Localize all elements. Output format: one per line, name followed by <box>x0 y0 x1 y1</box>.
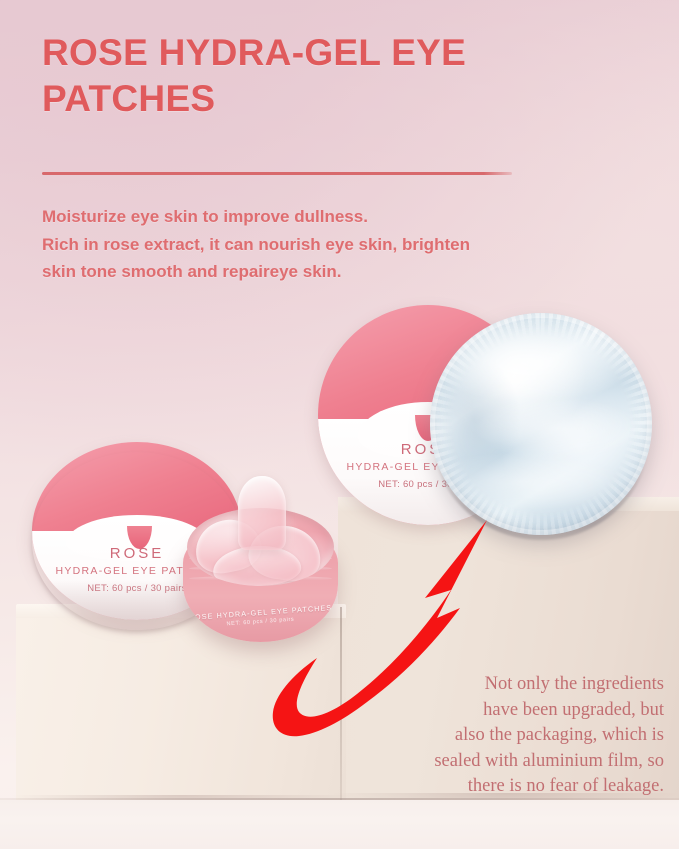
title-line-1: ROSE HYDRA-GEL EYE <box>42 32 466 73</box>
intro-line-2: Rich in rose extract, it can nourish eye… <box>42 231 642 259</box>
product-marketing-poster: ROSE HYDRA-GEL EYE PATCHES Moisturize ey… <box>0 0 679 849</box>
title-line-2: PATCHES <box>42 78 215 119</box>
intro-line-3: skin tone smooth and repaireye skin. <box>42 258 642 286</box>
callout-line-3: also the packaging, which is <box>352 723 664 749</box>
poster-heading: ROSE HYDRA-GEL EYE PATCHES <box>42 30 642 123</box>
callout-line-2: have been upgraded, but <box>352 698 664 724</box>
callout-line-1: Not only the ingredients <box>352 672 664 698</box>
page-title: ROSE HYDRA-GEL EYE PATCHES <box>42 30 642 123</box>
callout-line-4: sealed with aluminium film, so <box>352 749 664 775</box>
callout-paragraph: Not only the ingredients have been upgra… <box>352 672 664 800</box>
intro-line-1: Moisturize eye skin to improve dullness. <box>42 203 642 231</box>
title-divider <box>42 172 512 175</box>
intro-paragraph: Moisturize eye skin to improve dullness.… <box>42 203 642 286</box>
callout-line-5: there is no fear of leakage. <box>352 774 664 800</box>
